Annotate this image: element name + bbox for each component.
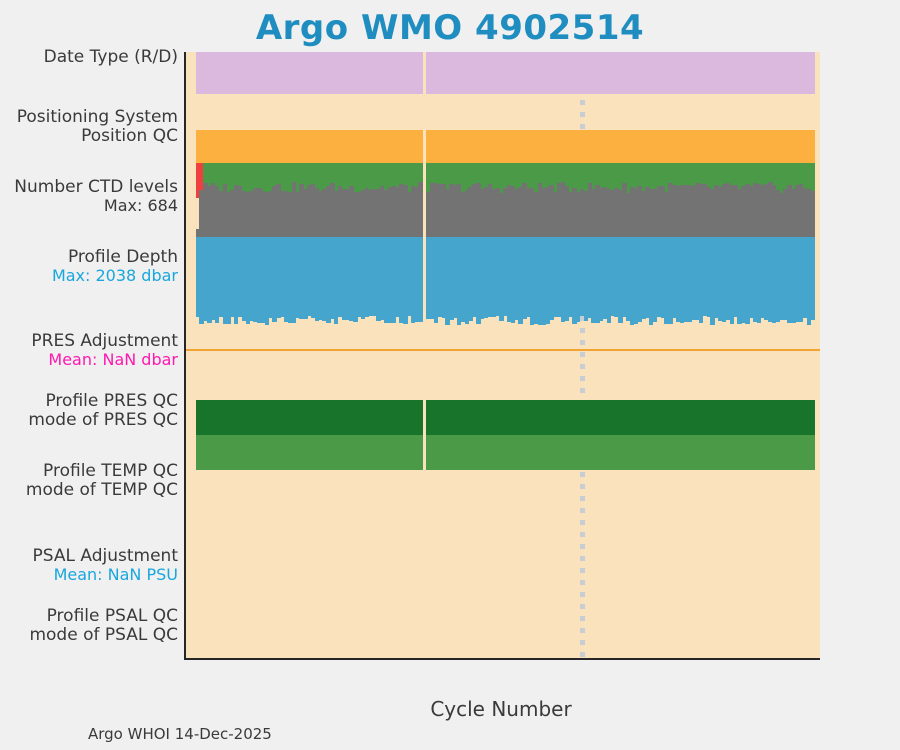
row-label-number-ctd-levels: Number CTD levels Max: 684	[14, 178, 178, 215]
row-label-profile-temp-qc: Profile TEMP QC mode of TEMP QC	[26, 462, 178, 500]
row-label-column: Date Type (R/D) Positioning System Posit…	[0, 52, 180, 658]
page-title: Argo WMO 4902514	[0, 8, 900, 48]
row-label-profile-psal-qc: Profile PSAL QC mode of PSAL QC	[29, 607, 178, 645]
cycle-cell	[418, 52, 422, 94]
track-mode-pres-qc	[186, 435, 820, 470]
track-profile-pres-qc	[186, 400, 820, 435]
row-label-pres-adjustment: PRES Adjustment Mean: NaN dbar	[31, 332, 178, 369]
row-label-positioning-system: Positioning System Position QC	[17, 108, 178, 146]
cycle-bar	[418, 237, 422, 322]
track-positioning-system	[186, 130, 820, 163]
cycle-cell	[810, 435, 814, 470]
track-pres-adjustment-zeroline	[186, 349, 820, 351]
cycle-cell	[418, 435, 422, 470]
cycle-bar	[810, 237, 814, 320]
cycle-cell	[810, 130, 814, 163]
x-axis-label: Cycle Number	[184, 697, 818, 721]
cycle-cell	[810, 52, 814, 94]
figure-footer: Argo WHOI 14-Dec-2025	[88, 725, 272, 743]
plot-canvas	[186, 52, 820, 658]
argo-profile-summary-figure: Argo WMO 4902514 Date Type (R/D) Positio…	[0, 0, 900, 750]
row-label-psal-adjustment: PSAL Adjustment Mean: NaN PSU	[33, 547, 178, 584]
cycle-cell	[810, 400, 814, 435]
row-label-profile-pres-qc: Profile PRES QC mode of PRES QC	[28, 392, 178, 430]
track-profile-depth	[186, 237, 820, 325]
row-label-profile-depth: Profile Depth Max: 2038 dbar	[52, 248, 178, 285]
track-date-type	[186, 52, 820, 94]
cycle-cell	[418, 130, 422, 163]
cycle-cell	[418, 400, 422, 435]
row-label-date-type: Date Type (R/D)	[44, 48, 178, 67]
x-axis	[184, 660, 818, 690]
plot-panel	[184, 52, 820, 660]
